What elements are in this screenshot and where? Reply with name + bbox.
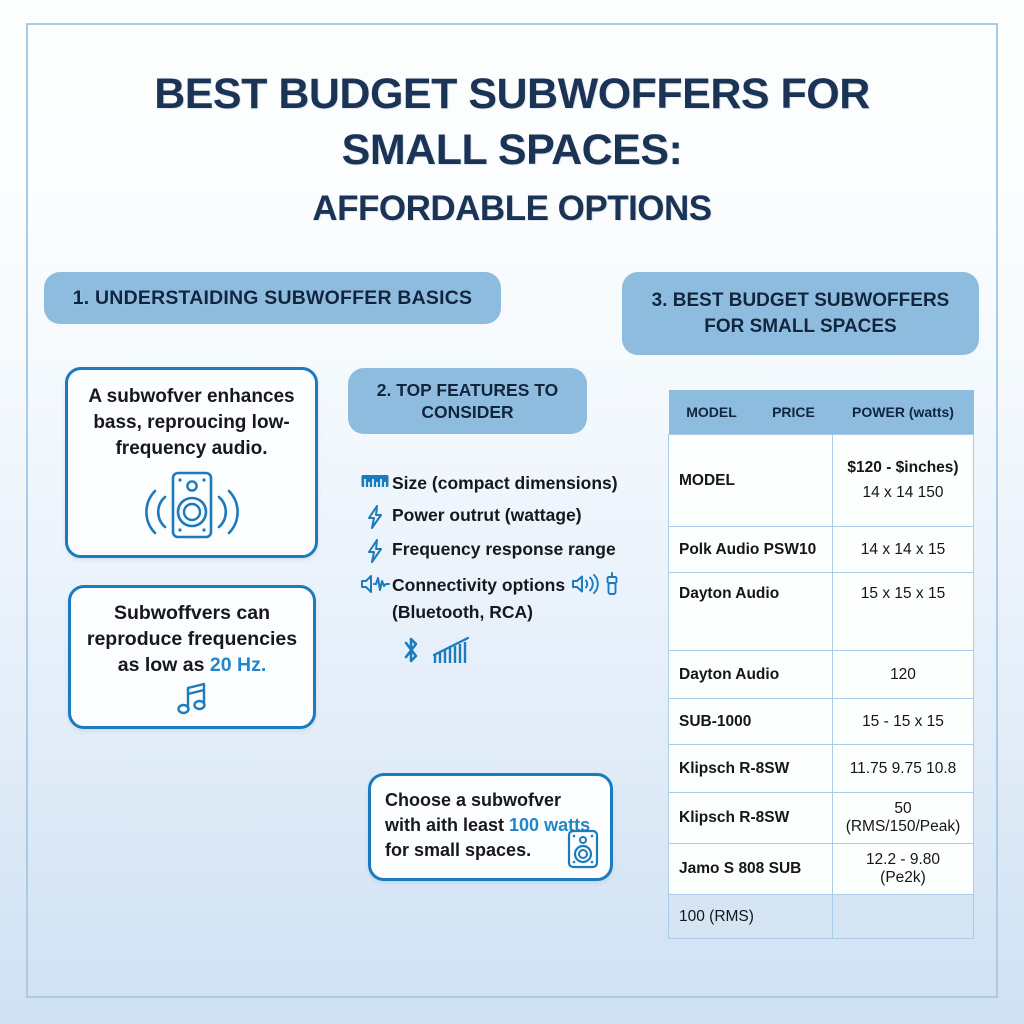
feature-item-connectivity: Connectivity options xyxy=(358,572,658,598)
table-cell-model: SUB-1000 xyxy=(669,699,833,745)
table-cell-model: MODEL xyxy=(669,435,833,527)
section-header-1-label: 1. UNDERSTAIDING SUBWOFFER BASICS xyxy=(73,287,473,310)
table-cell-power: 50 (RMS/150/Peak) xyxy=(833,793,974,844)
table-cell-power: 14 x 14 x 15 xyxy=(833,527,974,573)
section-header-3: 3. BEST BUDGET SUBWOFFERS FOR SMALL SPAC… xyxy=(622,272,979,355)
table-cell-model: Klipsch R-8SW xyxy=(669,793,833,844)
table-cell-power xyxy=(833,895,974,939)
card-wattage-advice: Choose a subwofver with aith least 100 w… xyxy=(368,773,613,881)
card-frequency-range-highlight: 20 Hz. xyxy=(210,654,266,676)
table-row: 100 (RMS) xyxy=(669,895,974,939)
lightning-bolt-icon xyxy=(358,538,392,563)
speaker-icon xyxy=(566,828,600,870)
card-subwoofer-definition: A subwofver enhances bass, reproucing lo… xyxy=(65,367,318,558)
table-header-model: MODEL xyxy=(669,390,755,435)
speaker-waves-icon xyxy=(68,469,315,541)
table-cell-power: 11.75 9.75 10.8 xyxy=(833,745,974,793)
table-cell-power-bottom: 14 x 14 150 xyxy=(841,484,965,502)
table-cell-power: 12.2 - 9.80 (Pe2k) xyxy=(833,844,974,895)
card-frequency-range-text: Subwoffvers can reproduce frequencies as… xyxy=(71,588,313,678)
feature-item-power-label: Power outrut (wattage) xyxy=(392,504,582,527)
ruler-icon xyxy=(358,472,392,489)
card-wattage-advice-text-after: for small spaces. xyxy=(385,840,531,860)
table-header-price: PRICE xyxy=(755,390,833,435)
card-subwoofer-definition-text: A subwofver enhances bass, reproucing lo… xyxy=(68,370,315,462)
infographic-poster: BEST BUDGET SUBWOFFERS FOR SMALL SPACES:… xyxy=(0,0,1024,1024)
table-cell-model: Dayton Audio xyxy=(669,573,833,651)
speaker-wave-icon xyxy=(358,572,392,595)
section-header-3-label: 3. BEST BUDGET SUBWOFFERS FOR SMALL SPAC… xyxy=(636,288,965,340)
feature-item-size: Size (compact dimensions) xyxy=(358,472,658,495)
table-cell-model: Polk Audio PSW10 xyxy=(669,527,833,573)
table-cell-power: 120 xyxy=(833,651,974,699)
feature-item-frequency: Frequency response range xyxy=(358,538,658,563)
title-line-1: BEST BUDGET SUBWOFFERS FOR xyxy=(90,66,934,122)
feature-list: Size (compact dimensions) Power outrut (… xyxy=(358,472,658,666)
section-header-2-label: 2. TOP FEATURES TO CONSIDER xyxy=(358,379,577,423)
feature-item-connectivity-text: Connectivity options xyxy=(392,574,565,597)
section-header-2: 2. TOP FEATURES TO CONSIDER xyxy=(348,368,587,434)
bluetooth-icon xyxy=(400,634,422,666)
lightning-bolt-icon xyxy=(358,504,392,529)
rca-plug-icon xyxy=(605,572,619,598)
product-comparison-table: MODEL PRICE POWER (watts) MODEL $120 - $… xyxy=(668,390,974,939)
feature-item-frequency-label: Frequency response range xyxy=(392,538,616,561)
card-frequency-range: Subwoffvers can reproduce frequencies as… xyxy=(68,585,316,729)
table-cell-model: 100 (RMS) xyxy=(669,895,833,939)
feature-extra-icons xyxy=(400,634,658,666)
title-line-2: SMALL SPACES: xyxy=(90,122,934,178)
table-cell-power: 15 - 15 x 15 xyxy=(833,699,974,745)
table-cell-power: 15 x 15 x 15 xyxy=(833,573,974,651)
table-row: Klipsch R-8SW 11.75 9.75 10.8 xyxy=(669,745,974,793)
table-cell-model: Dayton Audio xyxy=(669,651,833,699)
feature-item-connectivity-label: Connectivity options xyxy=(392,572,619,598)
table-row: Dayton Audio 15 x 15 x 15 xyxy=(669,573,974,651)
table-cell-power-top: $120 - $inches) xyxy=(841,459,965,477)
table-row: Klipsch R-8SW 50 (RMS/150/Peak) xyxy=(669,793,974,844)
table-row: Polk Audio PSW10 14 x 14 x 15 xyxy=(669,527,974,573)
table-row: SUB-1000 15 - 15 x 15 xyxy=(669,699,974,745)
feature-item-power: Power outrut (wattage) xyxy=(358,504,658,529)
section-header-1: 1. UNDERSTAIDING SUBWOFFER BASICS xyxy=(44,272,501,324)
table-row: MODEL $120 - $inches) 14 x 14 150 xyxy=(669,435,974,527)
table-row: Jamo S 808 SUB 12.2 - 9.80 (Pe2k) xyxy=(669,844,974,895)
feature-item-size-label: Size (compact dimensions) xyxy=(392,472,618,495)
table-row: Dayton Audio 120 xyxy=(669,651,974,699)
signal-bars-icon xyxy=(432,635,472,665)
table-cell-model: Klipsch R-8SW xyxy=(669,745,833,793)
table-cell-power: $120 - $inches) 14 x 14 150 xyxy=(833,435,974,527)
feature-item-connectivity-sub: (Bluetooth, RCA) xyxy=(392,601,658,624)
page-title: BEST BUDGET SUBWOFFERS FOR SMALL SPACES:… xyxy=(90,66,934,234)
table-header-power: POWER (watts) xyxy=(833,390,974,435)
table-header-row: MODEL PRICE POWER (watts) xyxy=(669,390,974,435)
title-line-3: AFFORDABLE OPTIONS xyxy=(90,184,934,234)
music-note-icon xyxy=(71,680,313,718)
table-cell-model: Jamo S 808 SUB xyxy=(669,844,833,895)
speaker-volume-icon xyxy=(571,574,599,597)
